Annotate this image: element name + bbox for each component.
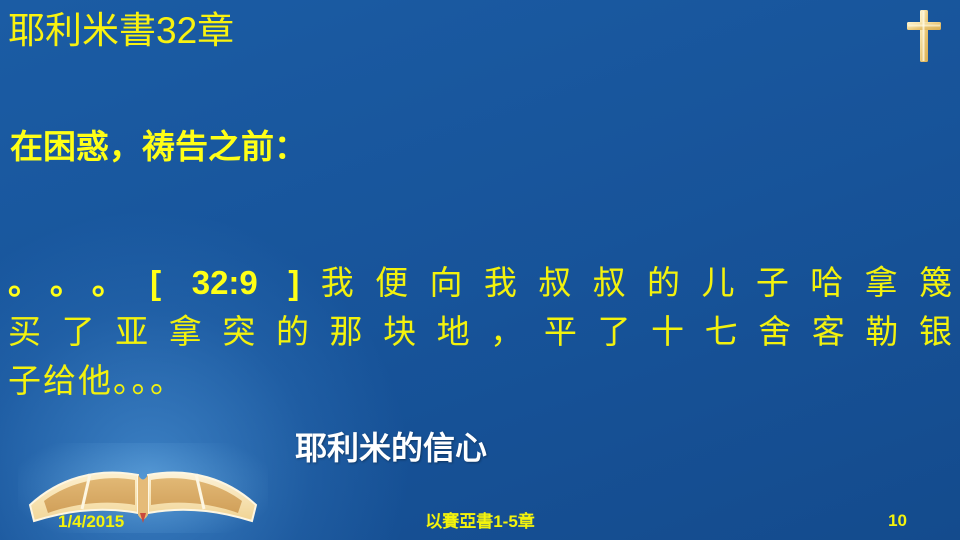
scripture-lead-ellipsis: 。。。	[8, 264, 150, 301]
subtitle-heading: 在困惑，祷告之前：	[10, 126, 307, 168]
theme-heading: 耶利米的信心	[295, 428, 487, 468]
presentation-slide: 耶利米書32章 在困惑，祷告之前： 。。。[ 32:9 ]我便向我叔叔的儿子哈拿…	[0, 0, 960, 540]
scripture-line-1-text: 我便向我叔叔的儿子哈拿篾	[299, 264, 952, 301]
scripture-line-2: 买了亚拿突的那块地，平了十七舍客勒银	[8, 307, 952, 356]
scripture-block: 。。。[ 32:9 ]我便向我叔叔的儿子哈拿篾 买了亚拿突的那块地，平了十七舍客…	[8, 258, 952, 405]
slide-title: 耶利米書32章	[8, 8, 234, 54]
scripture-reference: [ 32:9 ]	[150, 264, 299, 301]
scripture-line-1: 。。。[ 32:9 ]我便向我叔叔的儿子哈拿篾	[8, 258, 952, 307]
scripture-line-3: 子给他。。。	[8, 356, 952, 405]
footer-page-number: 10	[888, 511, 907, 531]
footer-reading-label: 以賽亞書1-5章	[0, 512, 960, 532]
cross-icon	[903, 8, 945, 64]
